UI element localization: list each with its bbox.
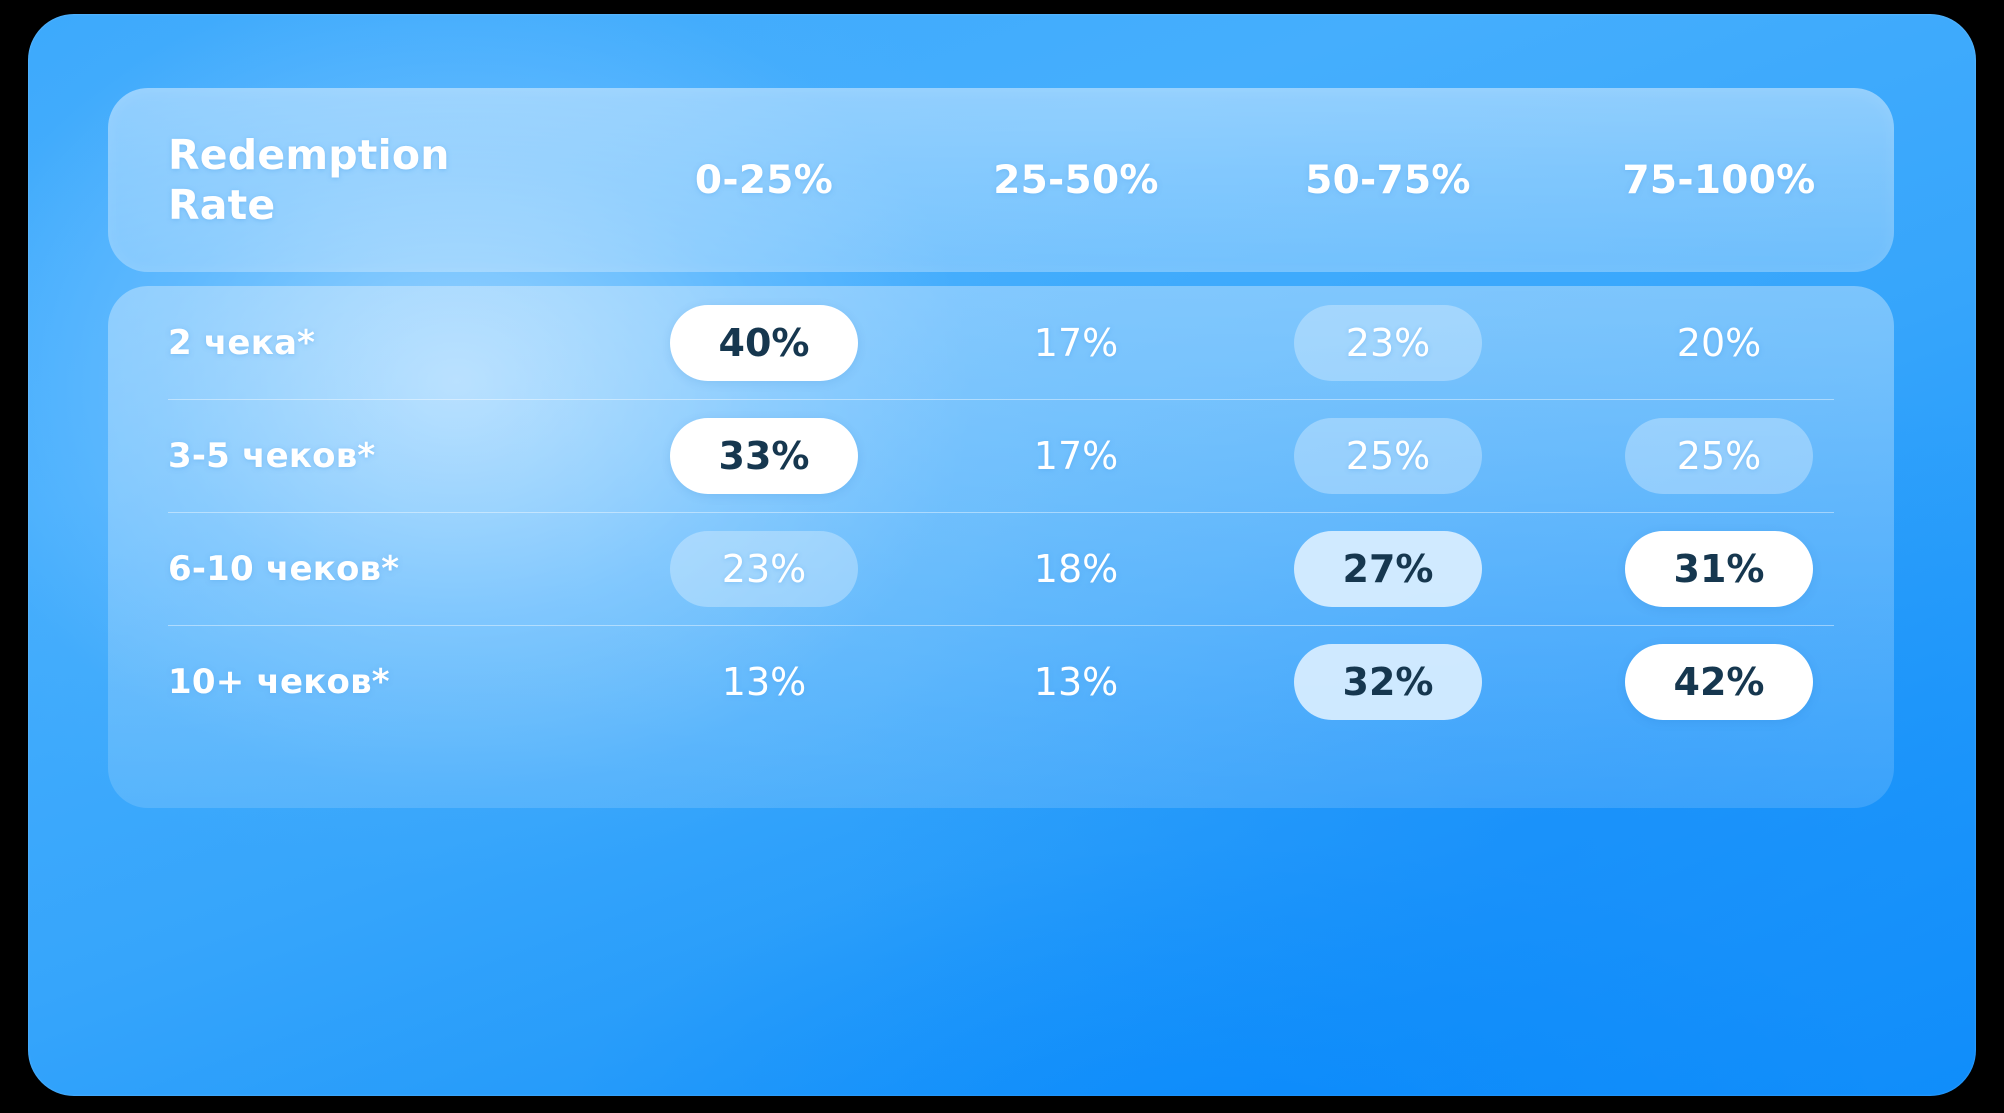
value-badge: 17% xyxy=(1034,418,1118,494)
value-badge: 23% xyxy=(670,531,858,607)
table-cell: 42% xyxy=(1544,644,1894,720)
value-badge: 13% xyxy=(1034,644,1118,720)
row-label: 2 чека* xyxy=(168,323,315,363)
page-title: Redemption Rate xyxy=(168,130,608,230)
table-row: 2 чека* 40% 17% 23% 20% xyxy=(108,286,1894,399)
value-badge: 25% xyxy=(1294,418,1482,494)
value-badge: 13% xyxy=(722,644,806,720)
value-badge: 32% xyxy=(1294,644,1482,720)
table-row: 10+ чеков* 13% 13% 32% 42% xyxy=(108,625,1894,738)
redemption-rate-card: Redemption Rate 0-25% 25-50% 50-75% 75-1… xyxy=(28,14,1976,1096)
column-header-label: 50-75% xyxy=(1305,158,1471,203)
row-header-cell: 6-10 чеков* xyxy=(108,549,608,589)
table-cell: 32% xyxy=(1232,644,1544,720)
page-title-line-1: Redemption xyxy=(168,130,608,180)
table-cell: 25% xyxy=(1232,418,1544,494)
column-header-25-50: 25-50% xyxy=(920,158,1232,203)
column-header-label: 75-100% xyxy=(1622,158,1815,203)
table-cell: 13% xyxy=(608,644,920,720)
table-cell: 18% xyxy=(920,531,1232,607)
column-header-label: 25-50% xyxy=(993,158,1159,203)
table-cell: 33% xyxy=(608,418,920,494)
row-label: 3-5 чеков* xyxy=(168,436,375,476)
row-label: 10+ чеков* xyxy=(168,662,390,702)
column-header-label: 0-25% xyxy=(695,158,833,203)
row-label: 6-10 чеков* xyxy=(168,549,399,589)
table-cell: 17% xyxy=(920,418,1232,494)
table-header-row: Redemption Rate 0-25% 25-50% 50-75% 75-1… xyxy=(108,130,1894,230)
value-badge: 25% xyxy=(1625,418,1813,494)
row-header-cell: 10+ чеков* xyxy=(108,662,608,702)
table-cell: 27% xyxy=(1232,531,1544,607)
table-cell: 40% xyxy=(608,305,920,381)
value-badge: 17% xyxy=(1034,305,1118,381)
value-badge: 31% xyxy=(1625,531,1813,607)
value-badge: 27% xyxy=(1294,531,1482,607)
row-header-cell: 2 чека* xyxy=(108,323,608,363)
table-cell: 23% xyxy=(1232,305,1544,381)
table-body-panel: 2 чека* 40% 17% 23% 20% 3-5 чеков* xyxy=(108,286,1894,808)
table-cell: 13% xyxy=(920,644,1232,720)
value-badge: 23% xyxy=(1294,305,1482,381)
table-cell: 20% xyxy=(1544,305,1894,381)
table-header-panel: Redemption Rate 0-25% 25-50% 50-75% 75-1… xyxy=(108,88,1894,272)
page-title-line-2: Rate xyxy=(168,180,608,230)
value-badge: 20% xyxy=(1677,305,1761,381)
table-cell: 23% xyxy=(608,531,920,607)
row-header-cell: 3-5 чеков* xyxy=(108,436,608,476)
table-cell: 25% xyxy=(1544,418,1894,494)
column-header-50-75: 50-75% xyxy=(1232,158,1544,203)
table-cell: 17% xyxy=(920,305,1232,381)
value-badge: 40% xyxy=(670,305,858,381)
table-row: 6-10 чеков* 23% 18% 27% 31% xyxy=(108,512,1894,625)
value-badge: 18% xyxy=(1034,531,1118,607)
table-row: 3-5 чеков* 33% 17% 25% 25% xyxy=(108,399,1894,512)
column-header-75-100: 75-100% xyxy=(1544,158,1894,203)
table-cell: 31% xyxy=(1544,531,1894,607)
value-badge: 33% xyxy=(670,418,858,494)
screenshot-stage: Redemption Rate 0-25% 25-50% 50-75% 75-1… xyxy=(0,0,2004,1113)
header-title-cell: Redemption Rate xyxy=(108,130,608,230)
column-header-0-25: 0-25% xyxy=(608,158,920,203)
value-badge: 42% xyxy=(1625,644,1813,720)
